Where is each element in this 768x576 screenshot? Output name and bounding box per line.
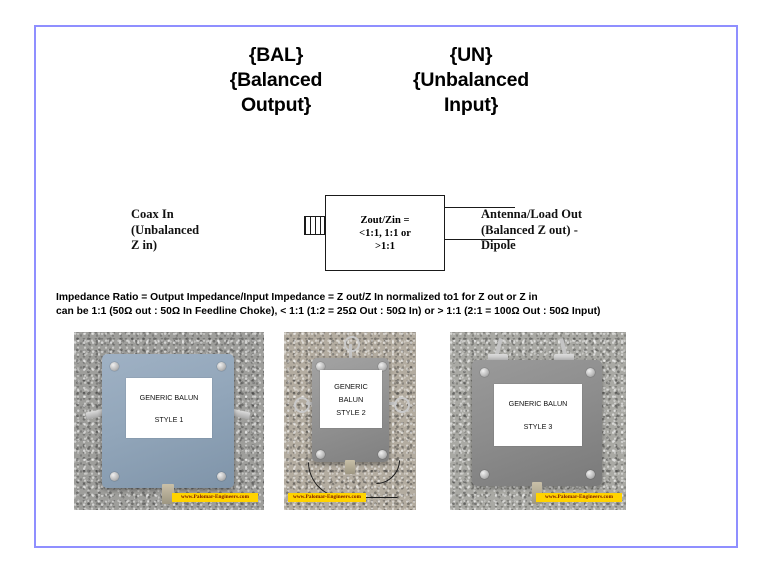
eyebolt-right (394, 397, 410, 413)
watermark-banner: www.Palomar-Engineers.com (536, 493, 622, 502)
screw-bottom-left (316, 450, 325, 459)
antenna-output-line3: Dipole (481, 238, 582, 254)
screw-top-right (217, 362, 226, 371)
bal-title-line1: {BAL} (186, 43, 366, 68)
balun-photo-style-1: GENERIC BALUN STYLE 1 www.Palomar-Engine… (74, 332, 264, 510)
balun-photo-style-2: GENERIC BALUN STYLE 2 www.Palomar-Engine… (284, 332, 416, 510)
title-row: {BAL} {Balanced Output} {UN} {Unbalanced… (36, 43, 736, 143)
enclosure-label-line1: GENERIC BALUN (509, 399, 568, 408)
un-title-line3: Input} (376, 93, 566, 118)
coax-connector-icon (304, 216, 325, 235)
screw-bottom-left (480, 470, 489, 479)
un-title-line2: {Unbalanced (376, 68, 566, 93)
coax-input-line1: Coax In (131, 207, 199, 223)
screw-bottom-right (586, 470, 595, 479)
watermark-banner: www.Palomar-Engineers.com (288, 493, 366, 502)
enclosure-label-line1: GENERIC BALUN (140, 393, 199, 402)
balun-box-line2: <1:1, 1:1 or (359, 227, 411, 240)
unbalanced-input-title: {UN} {Unbalanced Input} (376, 43, 566, 118)
screw-top-right (586, 368, 595, 377)
enclosure-label: GENERIC BALUN STYLE 3 (494, 384, 582, 446)
balun-block-diagram: Coax In (Unbalanced Z in) Zout/Zin = <1:… (36, 182, 740, 297)
balun-box: Zout/Zin = <1:1, 1:1 or >1:1 (325, 195, 445, 271)
watermark-banner: www.Palomar-Engineers.com (172, 493, 258, 502)
un-title-line1: {UN} (376, 43, 566, 68)
enclosure-label-line1: GENERIC (334, 380, 368, 393)
screw-bottom-right (217, 472, 226, 481)
screw-bottom-right (378, 450, 387, 459)
enclosure-label-line2: STYLE 3 (524, 422, 553, 431)
enclosure-label-line3: STYLE 2 (336, 406, 366, 419)
enclosure-label: GENERIC BALUN STYLE 2 (320, 370, 382, 428)
enclosure-label-line2: STYLE 1 (155, 415, 184, 424)
coax-input-label: Coax In (Unbalanced Z in) (131, 207, 199, 254)
eyebolt-top (344, 336, 360, 352)
antenna-output-line1: Antenna/Load Out (481, 207, 582, 223)
coax-input-line2: (Unbalanced (131, 223, 199, 239)
screw-top-left (480, 368, 489, 377)
screw-bottom-left (110, 472, 119, 481)
impedance-ratio-line1: Impedance Ratio = Output Impedance/Input… (56, 291, 726, 305)
balun-box-line3: >1:1 (375, 240, 395, 253)
enclosure-label: GENERIC BALUN STYLE 1 (126, 378, 212, 438)
impedance-ratio-note: Impedance Ratio = Output Impedance/Input… (56, 291, 726, 318)
screw-top-left (110, 362, 119, 371)
bal-title-line3: Output} (186, 93, 366, 118)
bal-title-line2: {Balanced (186, 68, 366, 93)
balun-photo-style-3: GENERIC BALUN STYLE 3 www.Palomar-Engine… (450, 332, 626, 510)
balun-box-line1: Zout/Zin = (361, 214, 410, 227)
eyebolt-left (294, 397, 310, 413)
coax-input-line3: Z in) (131, 238, 199, 254)
enclosure-label-line2: BALUN (339, 393, 364, 406)
balun-photo-strip: GENERIC BALUN STYLE 1 www.Palomar-Engine… (36, 332, 740, 517)
antenna-output-line2: (Balanced Z out) - (481, 223, 582, 239)
antenna-output-label: Antenna/Load Out (Balanced Z out) - Dipo… (481, 207, 582, 254)
balanced-output-title: {BAL} {Balanced Output} (186, 43, 366, 118)
impedance-ratio-line2: can be 1:1 (50Ω out : 50Ω In Feedline Ch… (56, 305, 726, 319)
slide-canvas: {BAL} {Balanced Output} {UN} {Unbalanced… (34, 25, 738, 548)
